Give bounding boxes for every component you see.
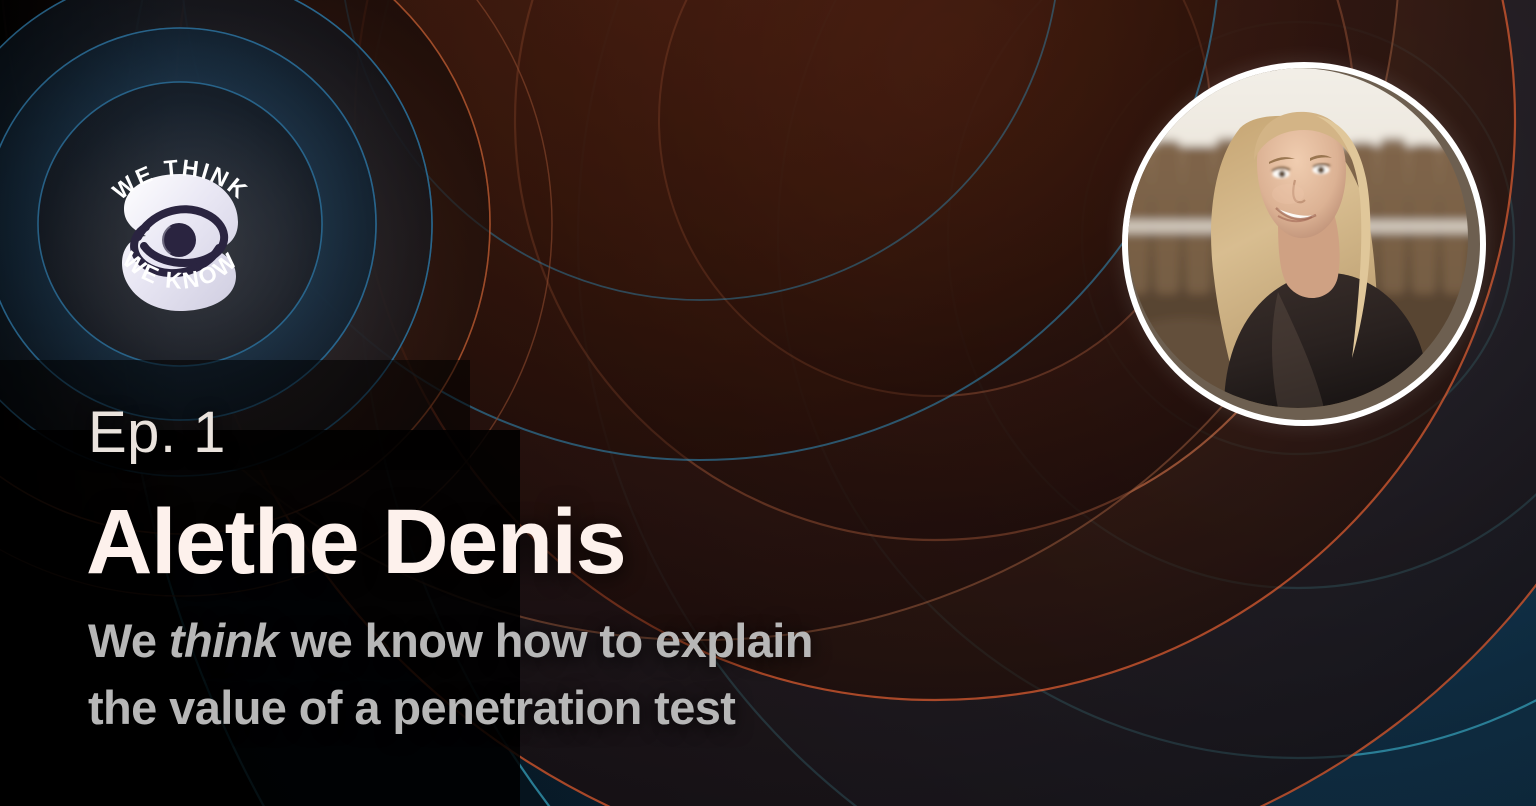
we-think-we-know-badge: WE THINK WE KNOW bbox=[78, 122, 283, 327]
title-line2: the value of a penetration test bbox=[88, 675, 1068, 742]
episode-label: Ep. 1 bbox=[88, 404, 226, 462]
title-post: we know how to explain bbox=[278, 614, 813, 667]
guest-portrait bbox=[1122, 62, 1486, 426]
episode-title: We think we know how to explain the valu… bbox=[88, 608, 1068, 741]
title-emphasis: think bbox=[169, 614, 278, 667]
podcast-episode-card: WE THINK WE KNOW bbox=[0, 0, 1536, 806]
podcast-logo: WE THINK WE KNOW bbox=[78, 122, 283, 327]
guest-name: Alethe Denis bbox=[86, 494, 625, 591]
guest-photo bbox=[1128, 68, 1468, 408]
title-pre: We bbox=[88, 614, 169, 667]
